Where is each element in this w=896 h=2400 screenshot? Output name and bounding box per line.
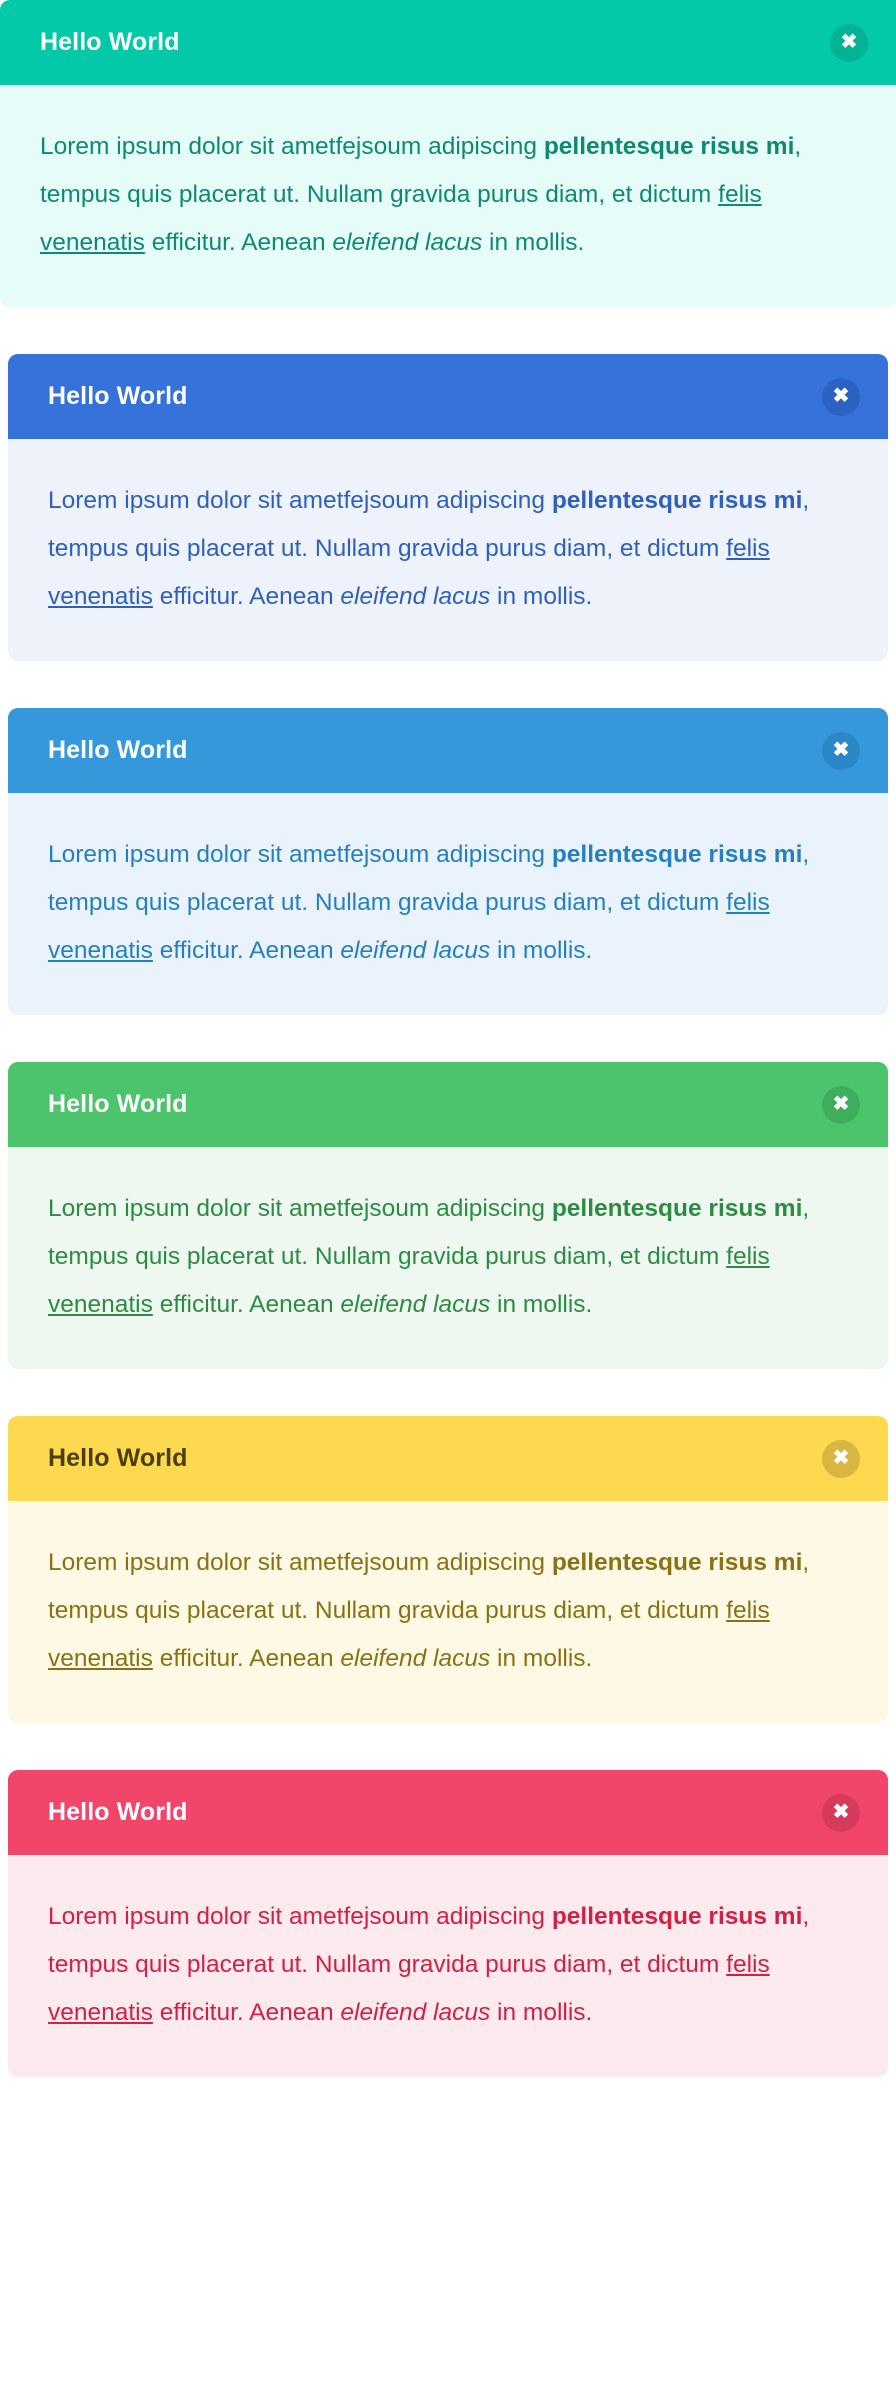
close-button[interactable]: ✖	[822, 1440, 860, 1478]
close-icon: ✖	[833, 1448, 850, 1468]
alert-body: Lorem ipsum dolor sit ametfejsoum adipis…	[8, 793, 888, 1015]
message-bold: pellentesque risus mi	[544, 133, 795, 160]
alert-card: Hello World✖Lorem ipsum dolor sit ametfe…	[8, 708, 888, 1015]
close-button[interactable]: ✖	[822, 378, 860, 416]
message-text: efficitur. Aenean	[145, 229, 333, 256]
message-bold: pellentesque risus mi	[552, 841, 803, 868]
alert-card: Hello World✖Lorem ipsum dolor sit ametfe…	[8, 1416, 888, 1723]
alert-header: Hello World✖	[8, 1770, 888, 1855]
message-text: efficitur. Aenean	[153, 583, 341, 610]
message-text: Lorem ipsum dolor sit ametfejsoum adipis…	[48, 1549, 552, 1576]
message-text: in mollis.	[490, 1645, 592, 1672]
alert-body: Lorem ipsum dolor sit ametfejsoum adipis…	[8, 439, 888, 661]
alert-message: Lorem ipsum dolor sit ametfejsoum adipis…	[40, 123, 856, 267]
message-text: in mollis.	[490, 583, 592, 610]
message-italic: eleifend lacus	[340, 937, 490, 964]
alert-title: Hello World	[48, 1446, 188, 1471]
message-bold: pellentesque risus mi	[552, 1549, 803, 1576]
alert-card: Hello World✖Lorem ipsum dolor sit ametfe…	[8, 1062, 888, 1369]
message-text: in mollis.	[490, 1999, 592, 2026]
message-text: in mollis.	[490, 937, 592, 964]
alert-message: Lorem ipsum dolor sit ametfejsoum adipis…	[48, 1893, 848, 2037]
alert-body: Lorem ipsum dolor sit ametfejsoum adipis…	[0, 85, 896, 307]
close-icon: ✖	[833, 1094, 850, 1114]
alert-stack: Hello World✖Lorem ipsum dolor sit ametfe…	[0, 0, 896, 2077]
alert-card: Hello World✖Lorem ipsum dolor sit ametfe…	[8, 1770, 888, 2077]
close-icon: ✖	[841, 32, 858, 52]
message-text: efficitur. Aenean	[153, 1645, 341, 1672]
message-italic: eleifend lacus	[340, 1999, 490, 2026]
message-text: Lorem ipsum dolor sit ametfejsoum adipis…	[48, 1903, 552, 1930]
close-icon: ✖	[833, 1802, 850, 1822]
alert-card: Hello World✖Lorem ipsum dolor sit ametfe…	[8, 354, 888, 661]
alert-title: Hello World	[48, 1800, 188, 1825]
alert-title: Hello World	[48, 1092, 188, 1117]
alert-message: Lorem ipsum dolor sit ametfejsoum adipis…	[48, 1539, 848, 1683]
message-bold: pellentesque risus mi	[552, 487, 803, 514]
close-icon: ✖	[833, 386, 850, 406]
message-text: in mollis.	[490, 1291, 592, 1318]
close-icon: ✖	[833, 740, 850, 760]
alert-body: Lorem ipsum dolor sit ametfejsoum adipis…	[8, 1855, 888, 2077]
alert-title: Hello World	[40, 30, 180, 55]
message-italic: eleifend lacus	[340, 1291, 490, 1318]
message-text: Lorem ipsum dolor sit ametfejsoum adipis…	[48, 487, 552, 514]
message-text: Lorem ipsum dolor sit ametfejsoum adipis…	[48, 1195, 552, 1222]
message-italic: eleifend lacus	[340, 583, 490, 610]
message-bold: pellentesque risus mi	[552, 1903, 803, 1930]
message-italic: eleifend lacus	[340, 1645, 490, 1672]
alert-header: Hello World✖	[8, 354, 888, 439]
alert-body: Lorem ipsum dolor sit ametfejsoum adipis…	[8, 1501, 888, 1723]
alert-card: Hello World✖Lorem ipsum dolor sit ametfe…	[0, 0, 896, 307]
close-button[interactable]: ✖	[822, 1794, 860, 1832]
message-italic: eleifend lacus	[332, 229, 482, 256]
message-text: Lorem ipsum dolor sit ametfejsoum adipis…	[48, 841, 552, 868]
message-text: efficitur. Aenean	[153, 1291, 341, 1318]
message-bold: pellentesque risus mi	[552, 1195, 803, 1222]
alert-body: Lorem ipsum dolor sit ametfejsoum adipis…	[8, 1147, 888, 1369]
message-text: Lorem ipsum dolor sit ametfejsoum adipis…	[40, 133, 544, 160]
alert-header: Hello World✖	[0, 0, 896, 85]
alert-header: Hello World✖	[8, 1062, 888, 1147]
alert-title: Hello World	[48, 738, 188, 763]
alert-message: Lorem ipsum dolor sit ametfejsoum adipis…	[48, 477, 848, 621]
message-text: efficitur. Aenean	[153, 937, 341, 964]
alert-message: Lorem ipsum dolor sit ametfejsoum adipis…	[48, 1185, 848, 1329]
alert-title: Hello World	[48, 384, 188, 409]
close-button[interactable]: ✖	[822, 732, 860, 770]
message-text: in mollis.	[482, 229, 584, 256]
close-button[interactable]: ✖	[830, 24, 868, 62]
close-button[interactable]: ✖	[822, 1086, 860, 1124]
alert-message: Lorem ipsum dolor sit ametfejsoum adipis…	[48, 831, 848, 975]
alert-header: Hello World✖	[8, 708, 888, 793]
alert-header: Hello World✖	[8, 1416, 888, 1501]
message-text: efficitur. Aenean	[153, 1999, 341, 2026]
